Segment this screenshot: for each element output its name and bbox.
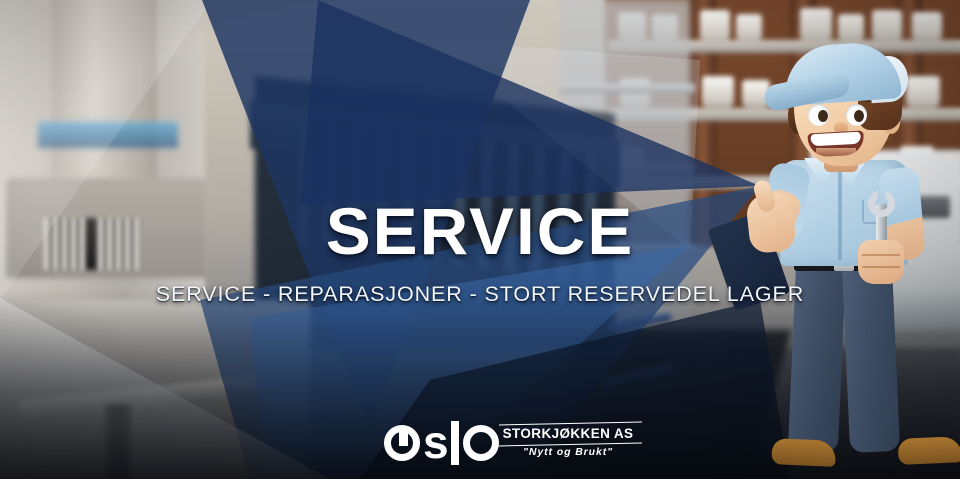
- logo-tagline: "Nytt og Brukt": [503, 446, 634, 458]
- page-title: SERVICE: [0, 198, 960, 264]
- company-logo[interactable]: s STORKJØKKEN AS "Nytt og Brukt": [384, 414, 584, 472]
- mascot-shoe-right: [898, 436, 960, 465]
- mascot-pupil-right: [854, 110, 864, 122]
- banner-text-block: SERVICE SERVICE - REPARASJONER - STORT R…: [0, 198, 960, 307]
- subtitle: SERVICE - REPARASJONER - STORT RESERVEDE…: [0, 282, 960, 307]
- logo-letter-s: s: [423, 423, 448, 463]
- mascot-chin: [816, 148, 856, 162]
- logo-company-name: STORKJØKKEN AS: [503, 426, 634, 441]
- logo-letter-l: [451, 421, 459, 465]
- logo-text-lockup: STORKJØKKEN AS "Nytt og Brukt": [503, 426, 634, 460]
- mascot-pupil-left: [818, 110, 828, 122]
- mascot-shoe-left: [771, 438, 836, 467]
- logo-wordmark: s: [384, 421, 499, 465]
- mascot-teeth: [810, 132, 861, 147]
- logo-letter-o-first: [384, 425, 420, 461]
- service-banner: SERVICE SERVICE - REPARASJONER - STORT R…: [0, 0, 960, 479]
- logo-letter-o-second: [463, 425, 499, 461]
